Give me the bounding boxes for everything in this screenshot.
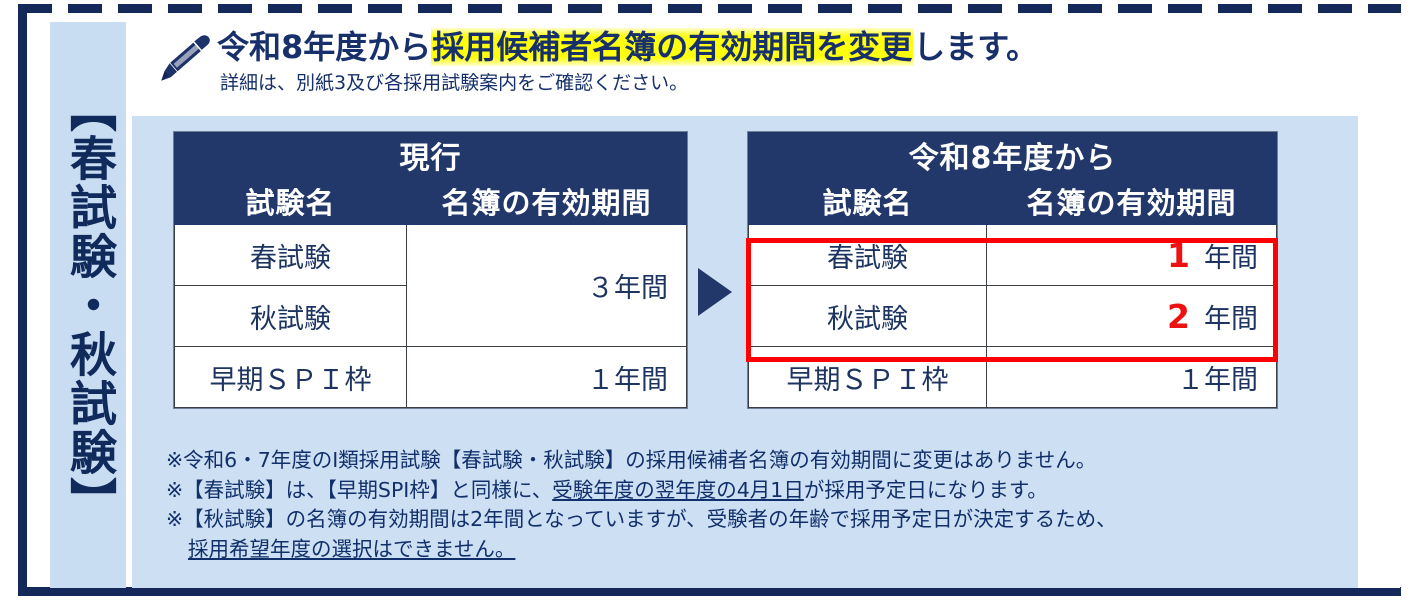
cell-exam-early-spi: 早期ＳＰＩ枠 (749, 347, 987, 408)
table-row: 秋試験 2年間 (749, 286, 1277, 347)
content-card: 令和8年度から採用候補者名簿の有効期間を変更します。 詳細は、別紙3及び各採用試… (132, 22, 1400, 588)
table-row: 試験名 名簿の有効期間 (749, 178, 1277, 225)
table-future-col-period: 名簿の有効期間 (987, 178, 1277, 225)
value-unit-spring: 年間 (1204, 243, 1258, 274)
table-current-rules: 現行 試験名 名簿の有効期間 春試験 ３年間 秋試験 (174, 132, 687, 408)
table-row: 試験名 名簿の有効期間 (175, 178, 687, 225)
table-future-rules: 令和8年度から 試験名 名簿の有効期間 春試験 1年間 秋試験 2年間 (748, 132, 1277, 408)
value-number-spring: 1 (1167, 236, 1190, 275)
side-tab-label: 【春試験・秋試験】 (64, 85, 112, 526)
infographic-page: 【春試験・秋試験】 令和8年度から採用候補者名簿の有効期間を変更します。 詳細は… (0, 0, 1418, 609)
table-row: 春試験 ３年間 (175, 225, 687, 286)
footnote-line-4: 採用希望年度の選択はできません。 (166, 535, 1346, 565)
frame-border-top-dashed (18, 4, 1410, 13)
footnote-underline-4: 採用希望年度の選択はできません。 (166, 535, 515, 565)
page-title: 令和8年度から採用候補者名簿の有効期間を変更します。 (217, 27, 1038, 67)
cell-exam-early-spi: 早期ＳＰＩ枠 (175, 347, 407, 408)
comparison-tables: 現行 試験名 名簿の有効期間 春試験 ３年間 秋試験 (132, 116, 1358, 434)
table-current-title: 現行 (175, 133, 687, 178)
table-future-col-exam: 試験名 (749, 178, 987, 225)
headline-zone: 令和8年度から採用候補者名簿の有効期間を変更します。 詳細は、別紙3及び各採用試… (132, 22, 1400, 116)
table-row: 令和8年度から (749, 133, 1277, 178)
info-panel: 現行 試験名 名簿の有効期間 春試験 ３年間 秋試験 (132, 116, 1358, 588)
headline-suffix: します。 (913, 28, 1038, 66)
table-future-title: 令和8年度から (749, 133, 1277, 178)
footnote-underline-2: 受験年度の翌年度の4月1日 (552, 478, 804, 502)
cell-exam-spring: 春試験 (175, 225, 407, 286)
footnote-line-3: ※【秋試験】の名簿の有効期間は2年間となっていますが、受験者の年齢で採用予定日が… (166, 505, 1346, 535)
table-row: 早期ＳＰＩ枠 １年間 (175, 347, 687, 408)
side-tab-exam-category: 【春試験・秋試験】 (50, 22, 126, 588)
cell-period-early-spi: １年間 (407, 347, 687, 408)
headline-prefix: 令和8年度から (217, 28, 431, 66)
cell-exam-autumn: 秋試験 (749, 286, 987, 347)
footnotes: ※令和6・7年度のⅠ類採用試験【春試験・秋試験】の採用候補者名簿の有効期間に変更… (166, 446, 1346, 564)
frame-border-right (1401, 4, 1410, 596)
footnote-line-2: ※【春試験】は、【早期SPI枠】と同様に、受験年度の翌年度の4月1日が採用予定日… (166, 476, 1346, 506)
value-unit-autumn: 年間 (1204, 304, 1258, 335)
headline-highlight: 採用候補者名簿の有効期間を変更 (431, 28, 913, 66)
table-current-col-period: 名簿の有効期間 (407, 178, 687, 225)
table-row: 春試験 1年間 (749, 225, 1277, 286)
table-row: 早期ＳＰＩ枠 １年間 (749, 347, 1277, 408)
table-current-col-exam: 試験名 (175, 178, 407, 225)
fountain-pen-icon (150, 31, 212, 83)
cell-period-spring: 1年間 (987, 225, 1277, 286)
page-subtitle: 詳細は、別紙3及び各採用試験案内をご確認ください。 (220, 70, 688, 96)
cell-period-early-spi: １年間 (987, 347, 1277, 408)
footnote-line-1: ※令和6・7年度のⅠ類採用試験【春試験・秋試験】の採用候補者名簿の有効期間に変更… (166, 446, 1346, 476)
cell-period-autumn: 2年間 (987, 286, 1277, 347)
right-triangle-arrow-icon (698, 268, 732, 316)
cell-exam-spring: 春試験 (749, 225, 987, 286)
cell-period-spring-autumn: ３年間 (407, 225, 687, 347)
value-number-autumn: 2 (1167, 297, 1190, 336)
cell-exam-autumn: 秋試験 (175, 286, 407, 347)
table-row: 現行 (175, 133, 687, 178)
frame-border-left (18, 4, 27, 596)
frame-border-bottom (18, 587, 1410, 596)
